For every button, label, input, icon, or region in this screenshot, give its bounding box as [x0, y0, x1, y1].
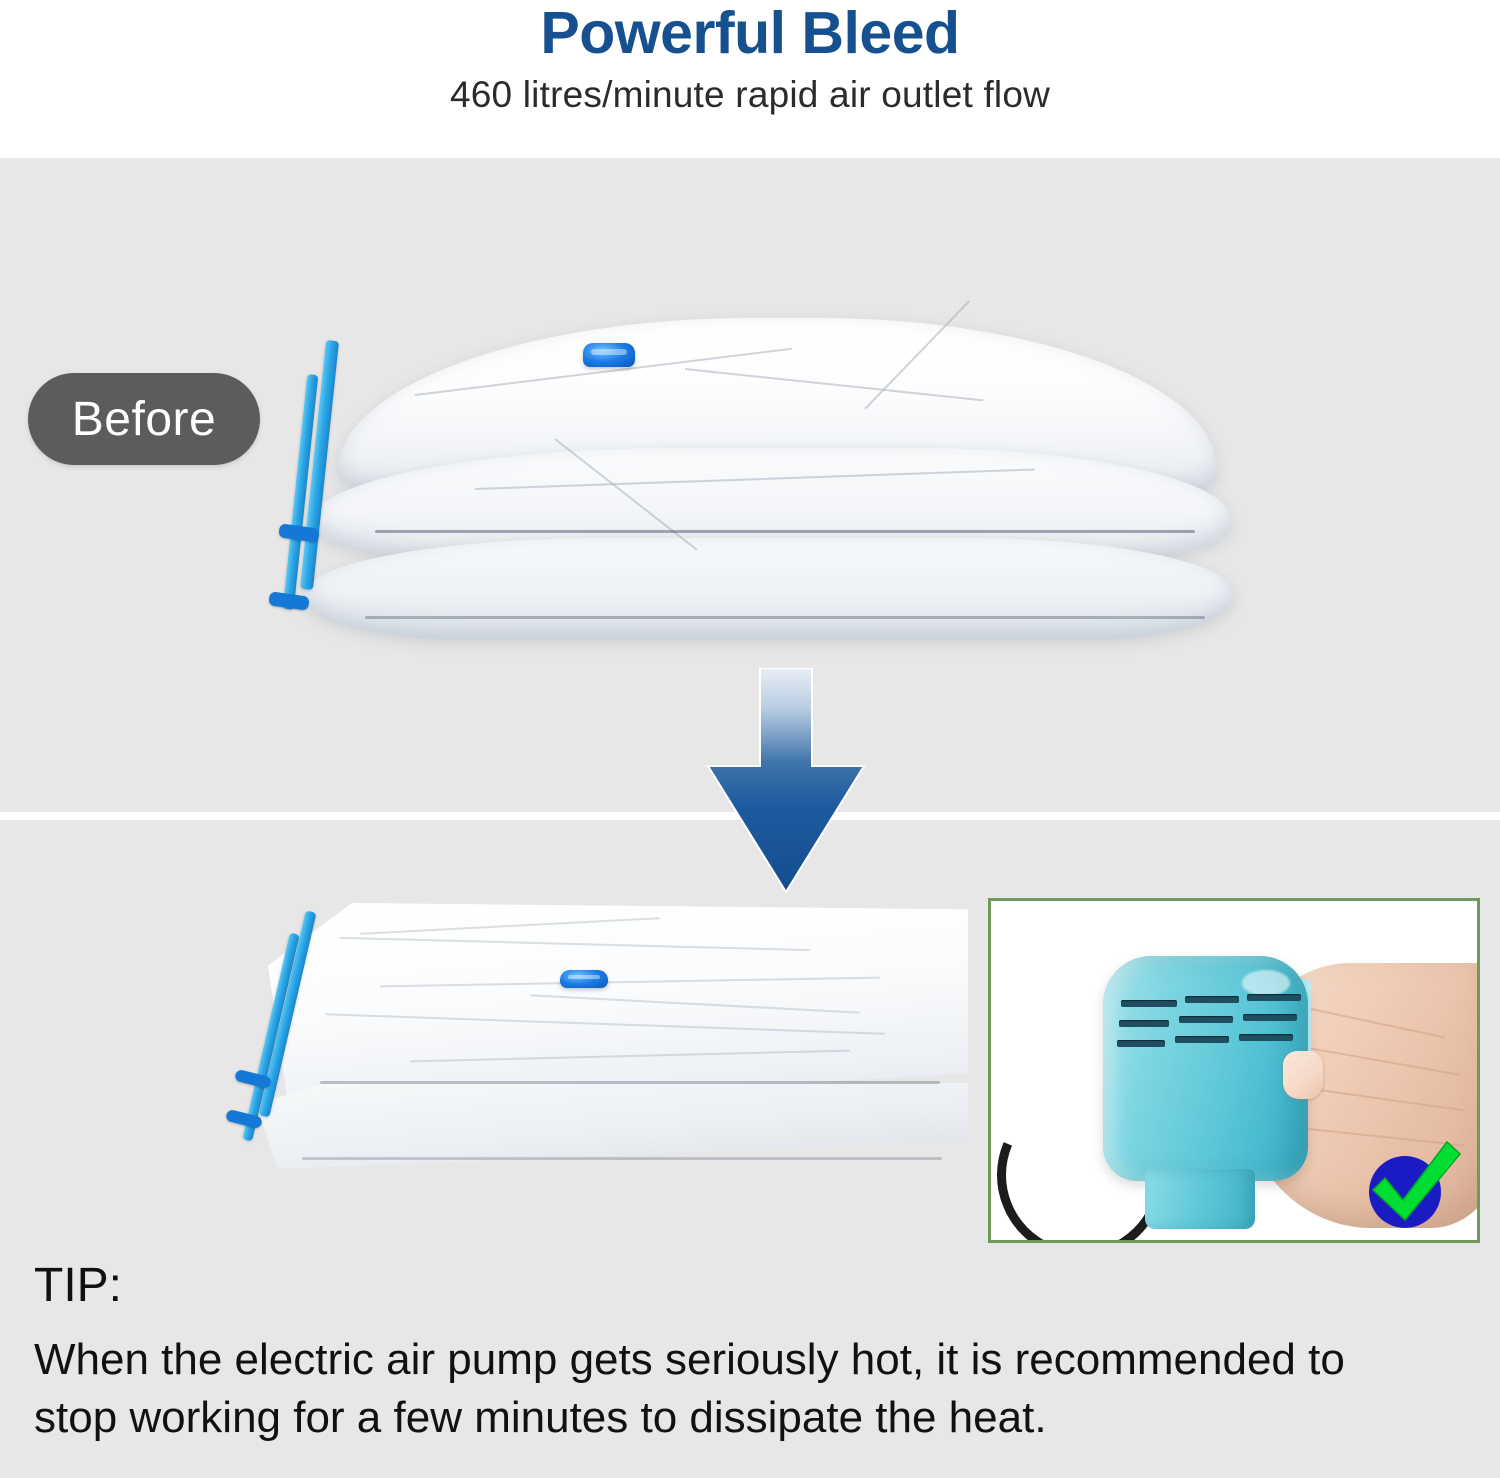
- down-arrow-icon: [700, 668, 872, 896]
- bag-air-valve: [583, 343, 635, 367]
- pump-vent-slot: [1179, 1016, 1233, 1023]
- pump-highlight: [1242, 970, 1290, 996]
- bag-air-valve: [560, 970, 608, 988]
- before-badge: Before: [28, 373, 260, 465]
- pump-vent-slot: [1119, 1020, 1169, 1027]
- pump-vent-slot: [1247, 994, 1301, 1001]
- tip-heading: TIP:: [34, 1258, 1474, 1315]
- tip-body-line-2: stop working for a few minutes to dissip…: [34, 1389, 1474, 1447]
- hand-crease: [1298, 1005, 1445, 1038]
- before-badge-label: Before: [72, 392, 216, 447]
- pump-vent-slot: [1117, 1040, 1165, 1047]
- page-title: Powerful Bleed: [0, 0, 1500, 66]
- after-bag-image: [230, 895, 990, 1195]
- pump-inset-image: [988, 898, 1480, 1243]
- bag-seam: [375, 530, 1195, 533]
- header-banner: Powerful Bleed 460 litres/minute rapid a…: [0, 0, 1500, 158]
- bag-flat-top: [268, 903, 968, 1111]
- pump-nozzle: [1145, 1169, 1255, 1229]
- bag-seam: [302, 1157, 942, 1160]
- bag-seam: [320, 1081, 940, 1084]
- check-circle-icon: [1361, 1140, 1463, 1232]
- bag-seam: [365, 616, 1205, 619]
- electric-air-pump: [1103, 956, 1308, 1181]
- before-bag-image: [255, 298, 1265, 658]
- page-subtitle: 460 litres/minute rapid air outlet flow: [0, 66, 1500, 116]
- pump-vent-slot: [1121, 1000, 1177, 1007]
- tip-body-line-1: When the electric air pump gets seriousl…: [34, 1331, 1474, 1389]
- pump-vent-slot: [1239, 1034, 1293, 1041]
- pump-vent-slot: [1185, 996, 1239, 1003]
- bag-puff-bottom: [303, 538, 1233, 640]
- tip-section: TIP: When the electric air pump gets ser…: [34, 1258, 1474, 1447]
- pump-vent-slot: [1243, 1014, 1297, 1021]
- thumb-nail: [1283, 1051, 1323, 1099]
- pump-vent-slot: [1175, 1036, 1229, 1043]
